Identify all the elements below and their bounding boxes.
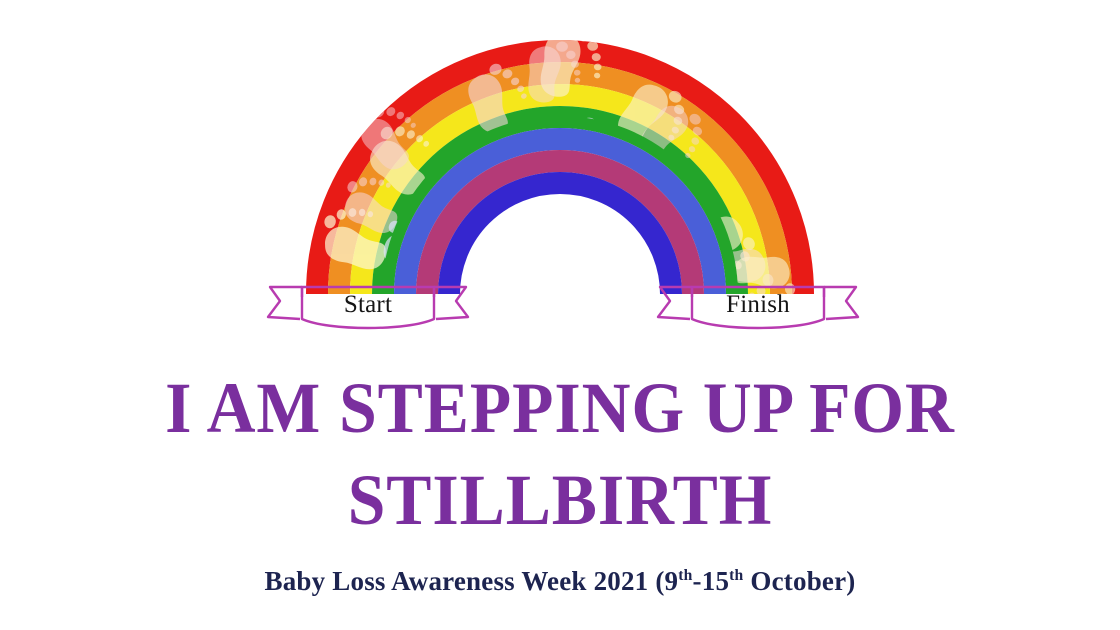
caption-ordinal-1: th [678,567,692,584]
headline-line-1: I AM STEPPING UP FOR [34,362,1087,454]
poster-canvas: Start Finish I AM STEPPING UP FOR STILLB… [0,0,1120,630]
page-title: I AM STEPPING UP FOR STILLBIRTH [34,362,1087,546]
caption-middle: -15 [693,566,730,596]
finish-banner-label: Finish [648,291,868,319]
caption-ordinal-2: th [729,567,743,584]
start-banner: Start [258,281,478,343]
caption-suffix: October) [743,566,855,596]
caption-prefix: Baby Loss Awareness Week 2021 (9 [265,566,679,596]
headline-line-2: STILLBIRTH [34,454,1087,546]
finish-banner: Finish [648,281,868,343]
rainbow-arch-graphic [290,18,830,298]
start-banner-label: Start [258,291,478,319]
caption-text: Baby Loss Awareness Week 2021 (9th-15th … [0,566,1120,597]
